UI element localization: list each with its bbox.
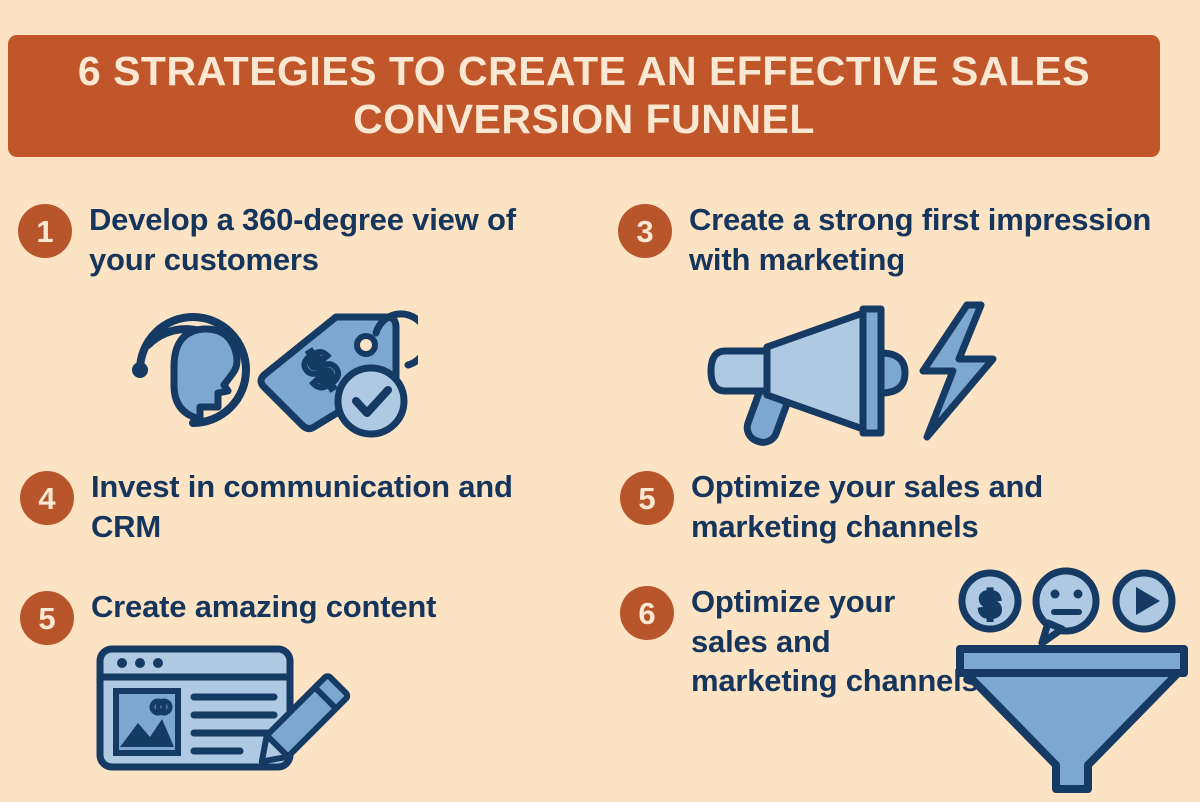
- strategy-label-4: Invest in communication and CRM: [91, 467, 580, 546]
- sales-funnel-icon: $: [948, 567, 1198, 802]
- strategy-item-6[interactable]: 6 Optimize your sales and marketing chan…: [620, 582, 980, 701]
- strategy-item-3[interactable]: 3 Create a strong first impression with …: [618, 200, 1198, 279]
- strategy-label-1: Develop a 360-degree view of your custom…: [89, 200, 578, 279]
- strategy-item-5-right-head: 5 Optimize your sales and marketing chan…: [620, 467, 1180, 546]
- strategy-number-badge-3: 3: [618, 204, 672, 258]
- strategy-number-badge-6: 6: [620, 586, 674, 640]
- strategy-number-badge-5-right: 5: [620, 471, 674, 525]
- page-title-banner: 6 STRATEGIES TO CREATE AN EFFECTIVE SALE…: [8, 35, 1160, 157]
- page-title: 6 STRATEGIES TO CREATE AN EFFECTIVE SALE…: [48, 48, 1120, 143]
- strategy-item-3-head: 3 Create a strong first impression with …: [618, 200, 1198, 279]
- strategy-item-1-head: 1 Develop a 360-degree view of your cust…: [18, 200, 578, 279]
- strategy-label-5-right: Optimize your sales and marketing channe…: [691, 467, 1180, 546]
- svg-text:$: $: [980, 584, 1000, 625]
- strategy-label-6: Optimize your sales and marketing channe…: [691, 582, 980, 701]
- strategy-item-1[interactable]: 1 Develop a 360-degree view of your cust…: [18, 200, 578, 279]
- strategy-number-badge-1: 1: [18, 204, 72, 258]
- strategy-item-5-right[interactable]: 5 Optimize your sales and marketing chan…: [620, 467, 1180, 546]
- left-column: 1 Develop a 360-degree view of your cust…: [0, 157, 600, 800]
- strategy-board: 1 Develop a 360-degree view of your cust…: [0, 157, 1200, 800]
- content-editor-icon: [90, 637, 360, 787]
- customer-360-view-icon: $: [118, 295, 418, 450]
- strategy-item-6-head: 6 Optimize your sales and marketing chan…: [620, 582, 980, 701]
- megaphone-icon: [705, 297, 1005, 452]
- strategy-label-5-left: Create amazing content: [91, 587, 436, 627]
- strategy-item-4[interactable]: 4 Invest in communication and CRM: [20, 467, 580, 546]
- strategy-number-badge-4: 4: [20, 471, 74, 525]
- right-column: 3 Create a strong first impression with …: [600, 157, 1200, 800]
- strategy-item-4-head: 4 Invest in communication and CRM: [20, 467, 580, 546]
- strategy-number-badge-5-left: 5: [20, 591, 74, 645]
- strategy-label-3: Create a strong first impression with ma…: [689, 200, 1198, 279]
